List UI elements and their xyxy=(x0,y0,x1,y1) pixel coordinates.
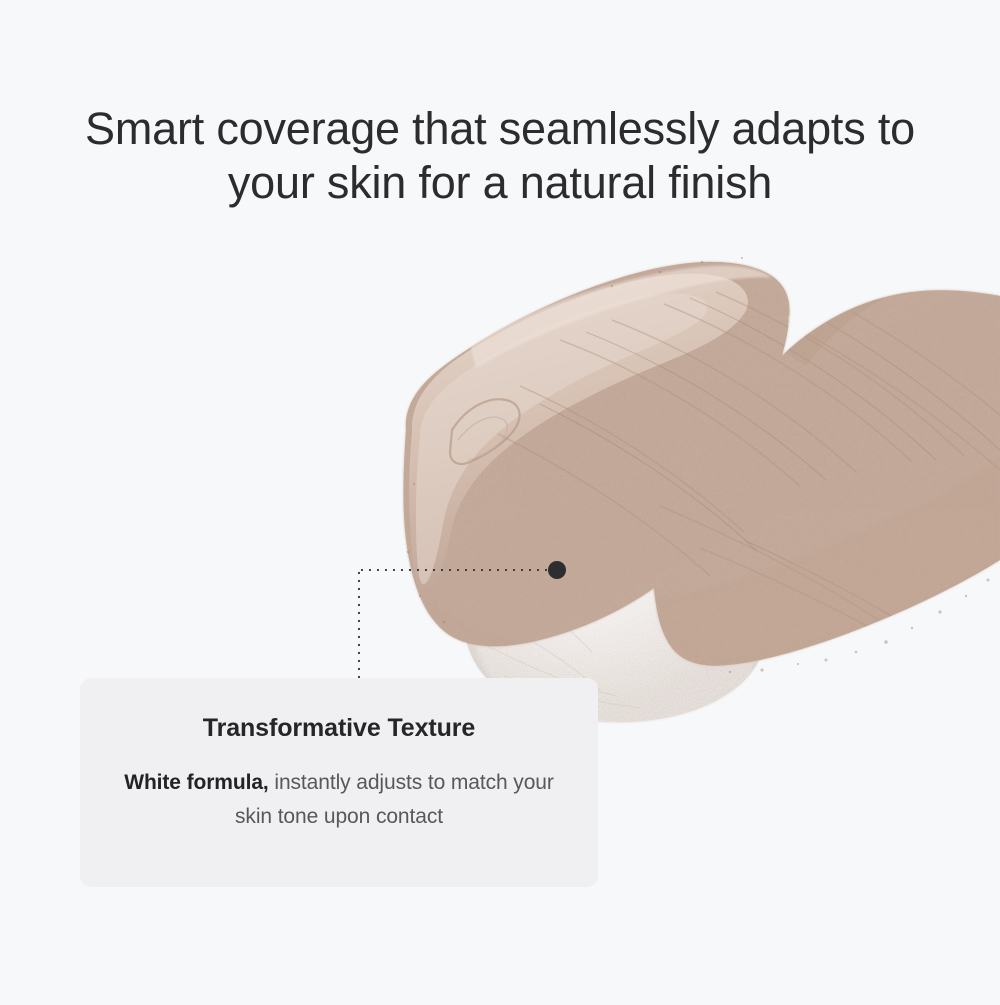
texture-info-card: Transformative Texture White formula, in… xyxy=(80,678,598,887)
powder-speckles xyxy=(407,257,990,673)
page-canvas: Smart coverage that seamlessly adapts to… xyxy=(0,0,1000,1000)
leader-line-vertical xyxy=(358,569,360,679)
texture-marker-dot[interactable] xyxy=(548,561,566,579)
page-headline: Smart coverage that seamlessly adapts to… xyxy=(0,102,1000,210)
card-body-rest: instantly adjusts to match your skin ton… xyxy=(235,771,554,828)
beige-foundation-smear xyxy=(390,250,1000,680)
card-body: White formula, instantly adjusts to matc… xyxy=(110,766,568,834)
card-title: Transformative Texture xyxy=(110,712,568,744)
card-body-lead: White formula, xyxy=(124,771,268,794)
leader-line-horizontal xyxy=(358,569,560,571)
